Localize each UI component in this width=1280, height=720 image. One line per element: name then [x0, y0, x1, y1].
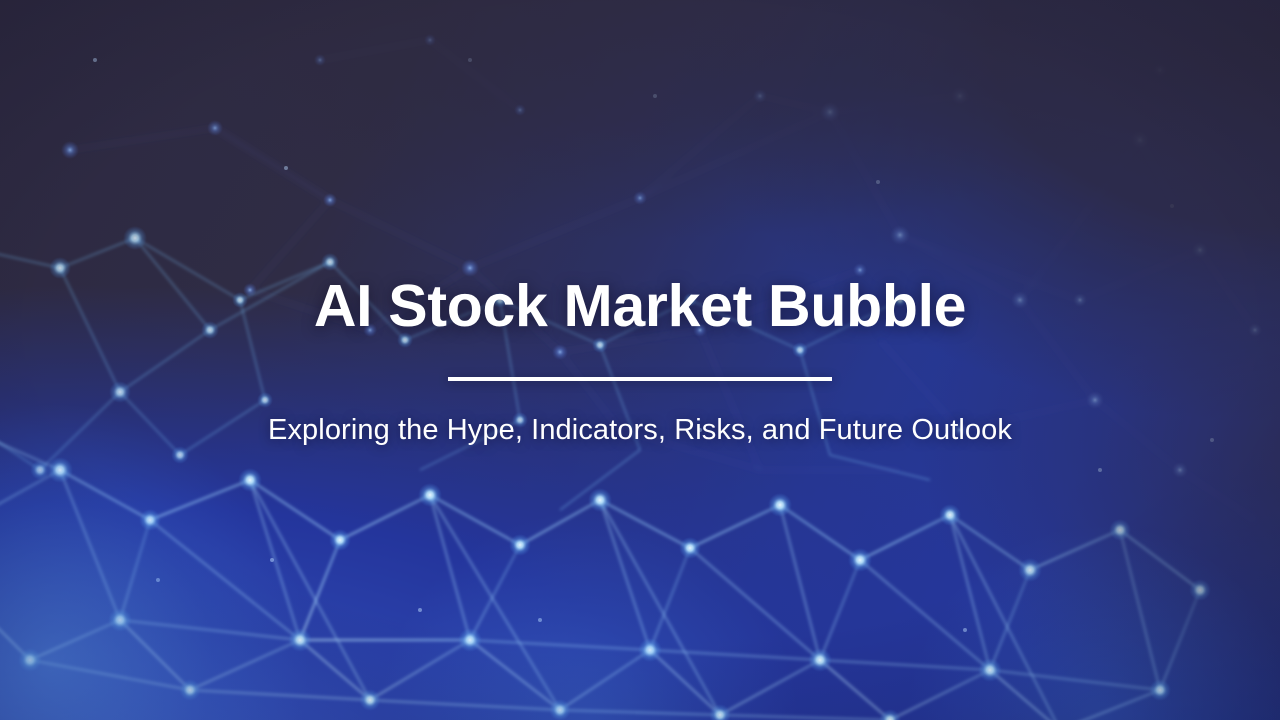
title-slide: AI Stock Market Bubble Exploring the Hyp…: [0, 0, 1280, 720]
page-title: AI Stock Market Bubble: [0, 276, 1280, 338]
title-block: AI Stock Market Bubble Exploring the Hyp…: [0, 0, 1280, 720]
title-divider: [448, 377, 832, 381]
page-subtitle: Exploring the Hype, Indicators, Risks, a…: [0, 413, 1280, 448]
